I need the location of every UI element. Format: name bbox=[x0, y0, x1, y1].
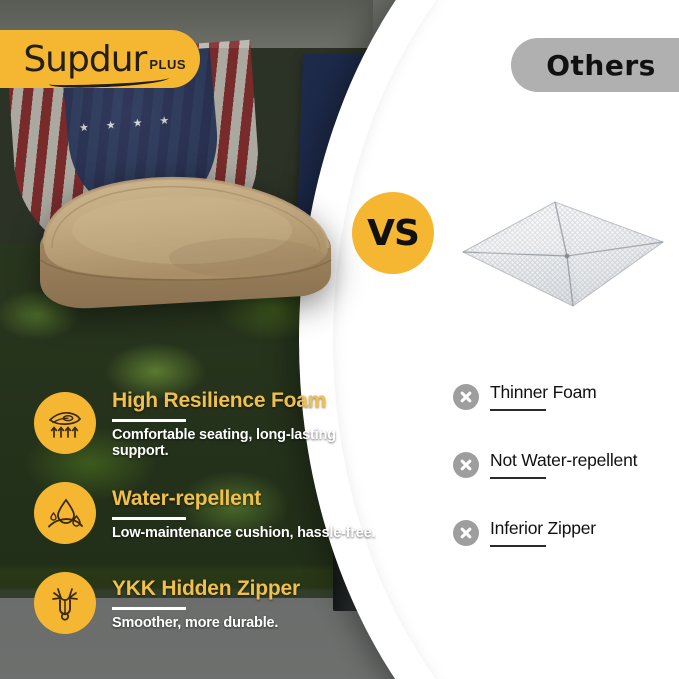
feature-item: Water-repellent Low-maintenance cushion,… bbox=[34, 468, 384, 558]
vs-badge: VS bbox=[352, 192, 434, 274]
con-title: Thinner Foam bbox=[490, 382, 597, 402]
others-label: Others bbox=[546, 49, 656, 82]
feature-underline bbox=[112, 607, 186, 610]
brand-logo-mark: Supdur PLUS bbox=[23, 39, 186, 80]
feature-list: High Resilience Foam Comfortable seating… bbox=[34, 378, 384, 648]
feature-item: YKK Hidden Zipper Smoother, more durable… bbox=[34, 558, 384, 648]
con-underline bbox=[490, 545, 546, 547]
feature-subtitle: Smoother, more durable. bbox=[112, 615, 300, 631]
hand-pressing-foam-icon bbox=[34, 392, 96, 454]
feature-item: High Resilience Foam Comfortable seating… bbox=[34, 378, 384, 468]
feature-subtitle: Low-maintenance cushion, hassle-free. bbox=[112, 525, 375, 541]
con-title: Not Water-repellent bbox=[490, 450, 637, 470]
feature-title: YKK Hidden Zipper bbox=[112, 577, 300, 600]
con-item: Inferior Zipper bbox=[453, 518, 673, 586]
feature-text: YKK Hidden Zipper Smoother, more durable… bbox=[112, 575, 300, 630]
con-title: Inferior Zipper bbox=[490, 518, 596, 538]
brand-suffix: PLUS bbox=[149, 57, 186, 72]
con-text: Thinner Foam bbox=[490, 382, 597, 411]
feature-text: High Resilience Foam Comfortable seating… bbox=[112, 387, 384, 458]
feature-title: Water-repellent bbox=[112, 487, 375, 510]
con-underline bbox=[490, 477, 546, 479]
water-droplet-icon bbox=[34, 482, 96, 544]
x-circle-icon bbox=[453, 384, 479, 410]
feature-text: Water-repellent Low-maintenance cushion,… bbox=[112, 485, 375, 540]
feature-subtitle: Comfortable seating, long-lasting suppor… bbox=[112, 427, 384, 459]
con-item: Not Water-repellent bbox=[453, 450, 673, 518]
con-item: Thinner Foam bbox=[453, 382, 673, 450]
feature-underline bbox=[112, 517, 186, 520]
cons-list: Thinner Foam Not Water-repellent bbox=[453, 382, 673, 586]
product-cushion-image bbox=[32, 168, 338, 318]
x-circle-icon bbox=[453, 452, 479, 478]
vs-label: VS bbox=[367, 213, 419, 254]
zipper-icon bbox=[34, 572, 96, 634]
x-circle-icon bbox=[453, 520, 479, 546]
con-underline bbox=[490, 409, 546, 411]
brand-logo-pill: Supdur PLUS bbox=[0, 30, 200, 88]
others-label-pill: Others bbox=[511, 38, 679, 92]
comparison-infographic: ★ bbox=[0, 0, 679, 679]
feature-underline bbox=[112, 419, 186, 422]
competitor-pad-image bbox=[455, 190, 670, 315]
con-text: Inferior Zipper bbox=[490, 518, 596, 547]
feature-title: High Resilience Foam bbox=[112, 389, 384, 412]
con-text: Not Water-repellent bbox=[490, 450, 637, 479]
